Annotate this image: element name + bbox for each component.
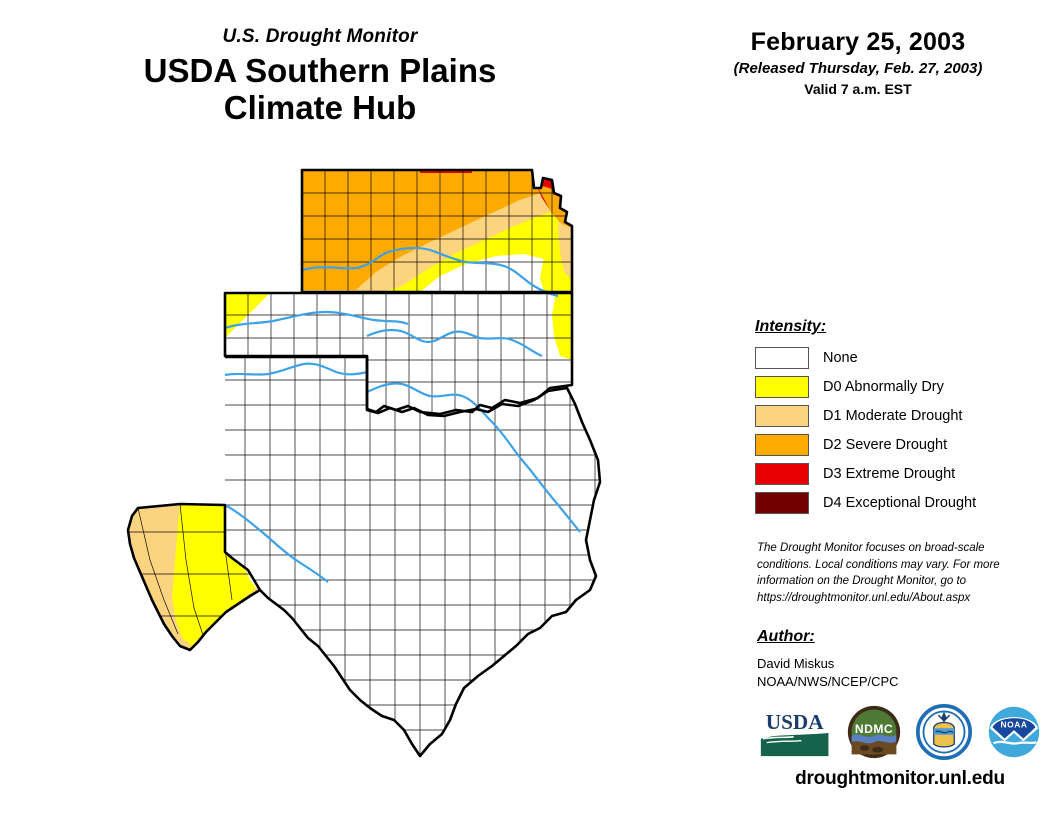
legend-swatch-d3 <box>755 463 809 485</box>
noaa-logo[interactable]: NOAA <box>986 704 1042 760</box>
legend-label-d0: D0 Abnormally Dry <box>823 379 944 395</box>
author-affiliation: NOAA/NWS/NCEP/CPC <box>757 673 1027 691</box>
legend-label-d4: D4 Exceptional Drought <box>823 495 976 511</box>
header-right: February 25, 2003 (Released Thursday, Fe… <box>660 28 1056 97</box>
page-title-line2: Climate Hub <box>0 90 640 127</box>
legend-heading: Intensity: <box>755 318 1045 336</box>
legend-item-d1[interactable]: D1 Moderate Drought <box>755 403 1045 428</box>
legend-item-d3[interactable]: D3 Extreme Drought <box>755 461 1045 486</box>
drought-map[interactable] <box>120 160 660 800</box>
author-name: David Miskus <box>757 655 1027 673</box>
disclaimer-line-1: The Drought Monitor focuses on broad-sca… <box>757 540 1027 557</box>
legend-label-none: None <box>823 350 858 366</box>
legend-label-d1: D1 Moderate Drought <box>823 408 962 424</box>
legend-swatch-d1 <box>755 405 809 427</box>
legend-swatch-d4 <box>755 492 809 514</box>
logo-row: USDA NDMC NOAA <box>757 702 1042 762</box>
legend-item-d0[interactable]: D0 Abnormally Dry <box>755 374 1045 399</box>
page-title-line1: USDA Southern Plains <box>0 53 640 90</box>
issue-date: February 25, 2003 <box>660 28 1056 57</box>
legend-item-none[interactable]: None <box>755 345 1045 370</box>
disclaimer-line-3: information on the Drought Monitor, go t… <box>757 573 1027 590</box>
legend-item-d2[interactable]: D2 Severe Drought <box>755 432 1045 457</box>
svg-text:USDA: USDA <box>766 710 824 734</box>
legend-item-d4[interactable]: D4 Exceptional Drought <box>755 490 1045 515</box>
valid-time: Valid 7 a.m. EST <box>660 81 1056 97</box>
svg-text:NDMC: NDMC <box>855 722 893 736</box>
nws-logo[interactable] <box>916 704 972 760</box>
svg-text:NOAA: NOAA <box>1001 719 1028 729</box>
author-heading: Author: <box>757 628 1027 646</box>
disclaimer-line-2: conditions. Local conditions may vary. F… <box>757 557 1027 574</box>
legend-swatch-d2 <box>755 434 809 456</box>
header-left: U.S. Drought Monitor USDA Southern Plain… <box>0 26 640 127</box>
disclaimer-url[interactable]: https://droughtmonitor.unl.edu/About.asp… <box>757 590 1027 607</box>
legend-swatch-d0 <box>755 376 809 398</box>
legend-label-d2: D2 Severe Drought <box>823 437 947 453</box>
legend: Intensity: None D0 Abnormally Dry D1 Mod… <box>755 318 1045 519</box>
page-title: USDA Southern Plains Climate Hub <box>0 53 640 127</box>
legend-swatch-none <box>755 347 809 369</box>
disclaimer: The Drought Monitor focuses on broad-sca… <box>757 540 1027 607</box>
drought-monitor-subtitle: U.S. Drought Monitor <box>0 26 640 48</box>
release-note: (Released Thursday, Feb. 27, 2003) <box>660 60 1056 77</box>
ndmc-logo[interactable]: NDMC <box>846 704 902 760</box>
author-block: Author: David Miskus NOAA/NWS/NCEP/CPC <box>757 628 1027 692</box>
drought-map-svg[interactable] <box>120 160 660 800</box>
site-url[interactable]: droughtmonitor.unl.edu <box>755 768 1045 790</box>
legend-label-d3: D3 Extreme Drought <box>823 466 955 482</box>
usda-logo[interactable]: USDA <box>757 704 832 760</box>
